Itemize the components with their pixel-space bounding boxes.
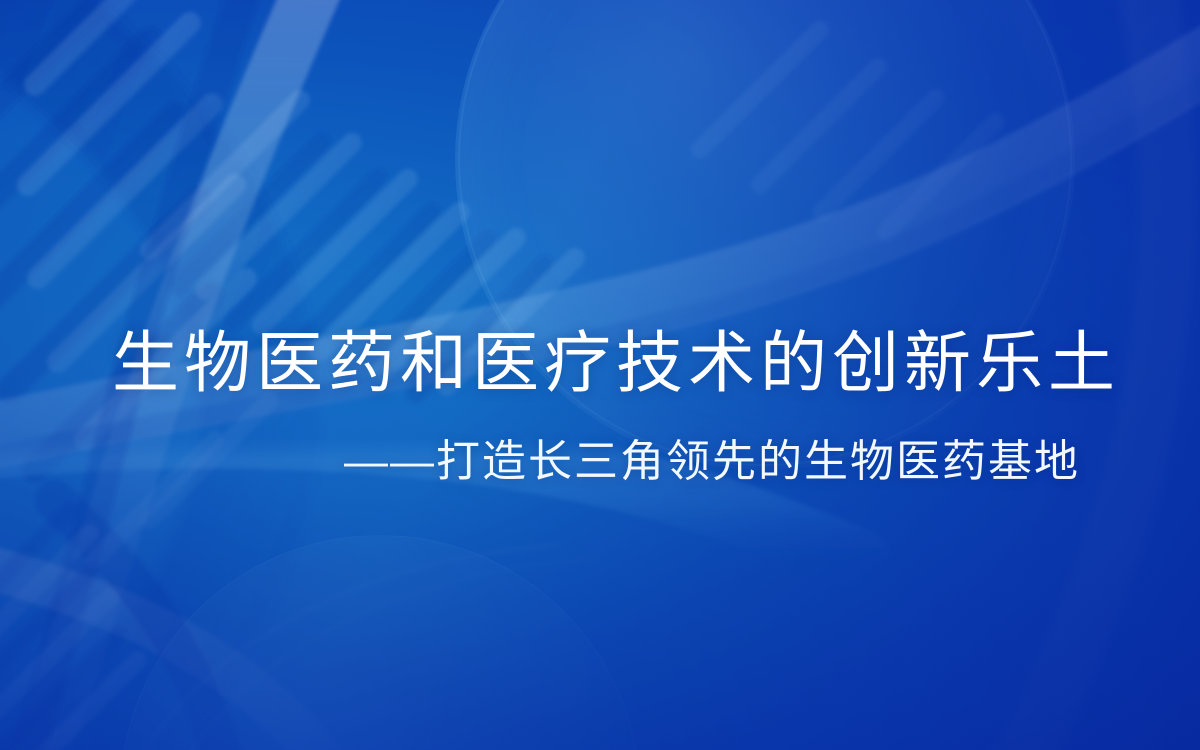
banner-subtitle: ——打造长三角领先的生物医药基地 xyxy=(112,437,1080,488)
banner-title: 生物医药和医疗技术的创新乐土 xyxy=(112,330,1088,398)
hero-banner: 生物医药和医疗技术的创新乐土 ——打造长三角领先的生物医药基地 xyxy=(0,0,1200,750)
banner-text-block: 生物医药和医疗技术的创新乐土 ——打造长三角领先的生物医药基地 xyxy=(0,0,1200,750)
